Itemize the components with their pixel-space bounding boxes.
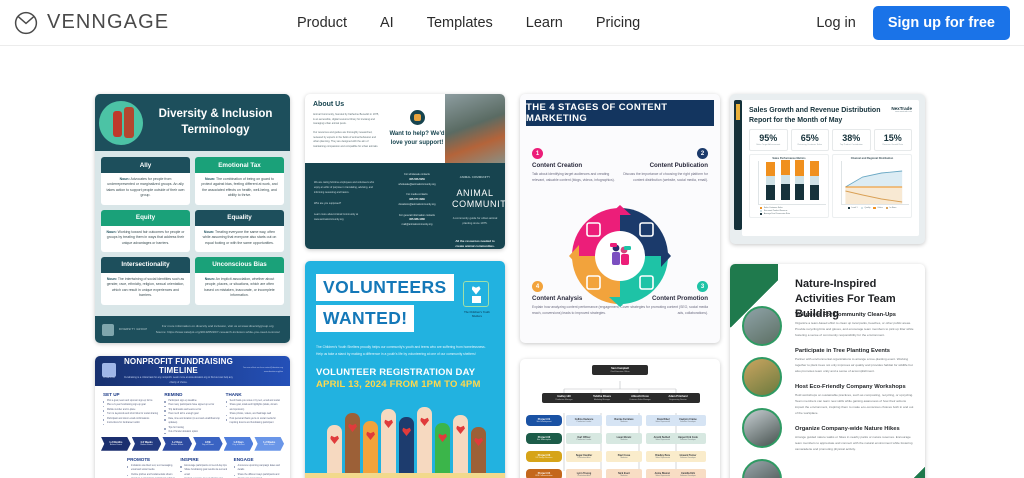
matrix-cell: Bonnie FurnitureMarketer bbox=[606, 415, 642, 426]
about-body: Animal Community, founded by Katherine B… bbox=[313, 113, 381, 149]
column-title: PROMOTE bbox=[127, 457, 175, 462]
report-page: Sales Growth and Revenue Distribution Re… bbox=[742, 100, 919, 236]
activity-list: Volunteer For Community Clean-Ups Organi… bbox=[795, 312, 914, 462]
ceo-node: Sam Campbell Chief Executive Officer bbox=[592, 365, 648, 375]
list-item: Date, time and location (in-text and ema… bbox=[164, 417, 220, 426]
kpi-card: 95% Sales Target Achievement bbox=[749, 129, 788, 151]
kpi-card: 65% Returning Customer Sales bbox=[791, 129, 830, 151]
column-title: SET UP bbox=[103, 392, 159, 397]
event-date: APRIL 13, 2024 FROM 1PM TO 4PM bbox=[305, 378, 505, 390]
activity-desc: Organize a team-based effort to clean up… bbox=[795, 320, 914, 338]
activity-desc: Arrange guided nature walks or hikes in … bbox=[795, 434, 914, 452]
shelter-logo: The Children's Youth Shelters bbox=[463, 281, 491, 319]
timeline-upper-columns: SET UP Pick a goal, team and sponsor sig… bbox=[95, 386, 290, 435]
brand-url: www.nextrade.com bbox=[891, 111, 912, 113]
hike-photo bbox=[742, 459, 782, 478]
list-item: Out of funder donation option bbox=[164, 430, 220, 434]
column-title: INSPIRE bbox=[180, 457, 228, 462]
timeline-column: SET UP Pick a goal, team and sponsor sig… bbox=[103, 392, 159, 435]
matrix-cell: Karl OfficerProduction Leader bbox=[566, 433, 602, 444]
term-header: Emotional Tax bbox=[195, 157, 284, 173]
stacked-bar bbox=[781, 160, 790, 200]
activity-item: Host Eco-Friendly Company Workshops Hold… bbox=[795, 384, 914, 416]
timeline-stage-arrows: 1-2 MonthsBefore Event 4-6 WeeksBefore E… bbox=[95, 435, 290, 453]
matrix-cell: Lynn TruongProduction Artist bbox=[566, 469, 602, 478]
cleanup-photo bbox=[742, 306, 782, 346]
project-label: Project #1Site Development bbox=[526, 415, 562, 426]
list-item: Announce upcoming campaign dates and det… bbox=[234, 464, 282, 473]
kpi-card: 15% Revenue Growth Rate bbox=[874, 129, 913, 151]
card-title: Diversity & Inclusion Terminology bbox=[147, 107, 284, 138]
login-link[interactable]: Log in bbox=[816, 15, 856, 31]
template-card-sales-report[interactable]: Sales Growth and Revenue Distribution Re… bbox=[730, 94, 925, 244]
term-definition: Noun: Treating everyone the same way, of… bbox=[195, 226, 284, 252]
brochure-inside: We are caring full-time employees and vo… bbox=[305, 163, 505, 249]
stage-1: 1 Content Creation Talk about identifyin… bbox=[532, 148, 620, 184]
signup-button[interactable]: Sign up for free bbox=[873, 6, 1010, 40]
stage-number: 4 bbox=[532, 281, 543, 292]
project-label: Project #4B2B Communication bbox=[526, 469, 562, 478]
list-item: Share the different ways participants an… bbox=[234, 473, 282, 478]
paw-badge-icon bbox=[410, 110, 425, 125]
venngage-logo[interactable]: VENNGAGE bbox=[14, 11, 169, 35]
footer-text: For more information on diversity and in… bbox=[152, 324, 283, 335]
project-label: Project #3UX Design Services bbox=[526, 451, 562, 462]
bar-plot-area bbox=[758, 161, 826, 205]
stacked-bar bbox=[795, 160, 804, 200]
kpi-value: 15% bbox=[876, 133, 911, 143]
panel-inside-left: We are caring full-time employees and vo… bbox=[305, 163, 389, 249]
tree-planting-photo bbox=[742, 357, 782, 397]
cta-text: Want to help? We'd love your support! bbox=[389, 130, 445, 147]
brand-logo: NexTrade www.nextrade.com bbox=[891, 106, 912, 126]
panel-cta: Want to help? We'd love your support! bbox=[389, 94, 445, 163]
legend-item: Quality bbox=[861, 207, 871, 209]
stage-number: 3 bbox=[697, 281, 708, 292]
timeline-subtitle: Fundraising is a critical task for any n… bbox=[122, 376, 235, 385]
list-item: Outline pitches and fundamentals shown s… bbox=[127, 473, 175, 478]
list-item: Instructions for fundraiser toolkit bbox=[103, 421, 159, 425]
matrix-cell: Nick EvertMarketer bbox=[606, 469, 642, 478]
stacked-bar bbox=[810, 161, 819, 200]
workshop-photo bbox=[742, 408, 782, 448]
activity-desc: Hold workshops on sustainable practices,… bbox=[795, 392, 914, 416]
stage-desc: Discuss the importance of choosing the r… bbox=[620, 171, 708, 184]
stage-arrow: 1-3 DaysDay of Event bbox=[224, 437, 254, 451]
activity-title: Organize Company-wide Nature Hikes bbox=[795, 426, 914, 432]
nav-item-ai[interactable]: AI bbox=[380, 15, 394, 31]
panel-about: About Us Animal Community, founded by Ka… bbox=[305, 94, 389, 163]
card-footer: DIVERSITY GROUP For more information on … bbox=[95, 316, 290, 343]
template-card-matrix-org-chart[interactable]: Sam Campbell Chief Executive Officer Had… bbox=[520, 359, 720, 478]
matrix-cell: Camilla KirkSoftware Developer bbox=[670, 469, 706, 478]
nav-item-templates[interactable]: Templates bbox=[427, 15, 493, 31]
template-gallery: Diversity & Inclusion Terminology Ally N… bbox=[0, 46, 1024, 478]
panel-contacts: For wholesale contacts905-566-5959wholes… bbox=[389, 163, 445, 249]
heart-house-icon bbox=[463, 281, 489, 307]
kpi-label: Top Product Contribution bbox=[834, 144, 869, 147]
term-definition: Noun: Working toward fair outcomes for p… bbox=[101, 226, 190, 252]
chart-legend: Level 1 Quality Online In-Store bbox=[835, 205, 909, 209]
column-title: REMIND bbox=[164, 392, 220, 397]
activity-title: Host Eco-Friendly Company Workshops bbox=[795, 384, 914, 390]
report-title: Sales Growth and Revenue Distribution Re… bbox=[749, 106, 891, 126]
fox-photo bbox=[445, 94, 505, 163]
term-header: Equity bbox=[101, 210, 190, 226]
timeline-column: THANK Send thank-you notes or by text, e… bbox=[226, 392, 282, 435]
brochure-front: About Us Animal Community, founded by Ka… bbox=[305, 94, 505, 163]
chart-legend: Sales Customer Sales Recurrent Product R… bbox=[752, 205, 826, 215]
activity-title: Participate in Tree Planting Events bbox=[795, 348, 914, 354]
kpi-value: 95% bbox=[751, 133, 786, 143]
nav-item-learn[interactable]: Learn bbox=[526, 15, 563, 31]
term-grid: Ally Noun: Advocates for people from und… bbox=[95, 151, 290, 311]
list-item: Invitations via direct text, text messag… bbox=[127, 464, 175, 473]
stage-number: 1 bbox=[532, 148, 543, 159]
term-definition: Noun: An implicit association, whether a… bbox=[195, 273, 284, 305]
poster-body: The Children's Youth Shelters proudly he… bbox=[305, 332, 505, 357]
header-text: NONPROFIT FUNDRAISING TIMELINE Fundraisi… bbox=[122, 357, 235, 385]
template-card-animal-community-brochure[interactable]: About Us Animal Community, founded by Ka… bbox=[305, 94, 505, 249]
org-chart-area: Sam Campbell Chief Executive Officer Had… bbox=[520, 359, 720, 478]
matrix-cell: Lavar MoretzMarketer bbox=[606, 433, 642, 444]
stage-arrow: LIVEDay of Event bbox=[193, 437, 223, 451]
main-navigation: Product AI Templates Learn Pricing bbox=[297, 15, 640, 31]
line-chart: Channel and Regional Distribution Level … bbox=[832, 154, 912, 218]
stage-arrow: 1-2 WeeksAfter Event bbox=[254, 437, 284, 451]
activity-title: Volunteer For Community Clean-Ups bbox=[795, 312, 914, 318]
term-header: Equality bbox=[195, 210, 284, 226]
donation-logo-icon bbox=[102, 363, 116, 377]
timeline-title: NONPROFIT FUNDRAISING TIMELINE bbox=[122, 357, 235, 375]
term-header: Unconscious Bias bbox=[195, 257, 284, 273]
kpi-value: 38% bbox=[834, 133, 869, 143]
legend-item: Level 1 bbox=[848, 207, 858, 209]
activity-item: Participate in Tree Planting Events Part… bbox=[795, 348, 914, 374]
activity-desc: Partner with environmental organizations… bbox=[795, 356, 914, 374]
brand-name: ANIMAL COMMUNITY bbox=[452, 188, 498, 211]
auth-group: Log in Sign up for free bbox=[816, 6, 1010, 40]
timeline-column: INSPIRE Encourage participants on feel-o… bbox=[180, 457, 228, 478]
template-card-volunteers-wanted[interactable]: VOLUNTEERS WANTED! The Children's Youth … bbox=[305, 261, 505, 478]
stage-arrow: 1-2 MonthsBefore Event bbox=[101, 437, 131, 451]
timeline-column: PROMOTE Invitations via direct text, tex… bbox=[127, 457, 175, 478]
template-card-fundraising-timeline[interactable]: DONATIONS NONPROFIT FUNDRAISING TIMELINE… bbox=[95, 356, 290, 478]
matrix-cell: Caelynn CraineSoftware Developer bbox=[670, 415, 706, 426]
template-card-nature-team-building[interactable]: Nature-Inspired Activities For Team Buil… bbox=[730, 264, 925, 478]
nav-item-pricing[interactable]: Pricing bbox=[596, 15, 640, 31]
card-title: THE 4 STAGES OF CONTENT MARKETING bbox=[526, 102, 714, 124]
brand-sub: A community guide for urban animal plant… bbox=[452, 216, 498, 226]
kpi-label: Revenue Growth Rate bbox=[876, 144, 911, 147]
cycle-wheel bbox=[569, 205, 671, 307]
column-title: THANK bbox=[226, 392, 282, 397]
spine-decoration bbox=[734, 100, 742, 230]
timeline-lower-columns: PROMOTE Invitations via direct text, tex… bbox=[95, 453, 290, 478]
term-cell: Intersectionality Noun: The intertwining… bbox=[101, 257, 190, 305]
raised-hands-illustration bbox=[305, 400, 505, 473]
kpi-label: Sales Target Achievement bbox=[751, 144, 786, 147]
venn-circle-icon bbox=[14, 11, 38, 35]
card-title-band: THE 4 STAGES OF CONTENT MARKETING bbox=[526, 100, 714, 126]
activity-item: Volunteer For Community Clean-Ups Organi… bbox=[795, 312, 914, 338]
brand-logo: DONATIONS bbox=[102, 363, 116, 379]
term-definition: Noun: Advocates for people from underrep… bbox=[101, 173, 190, 205]
group-logo-icon bbox=[102, 324, 114, 336]
kpi-card: 38% Top Product Contribution bbox=[832, 129, 871, 151]
stage-2: 2 Content Publication Discuss the import… bbox=[620, 148, 708, 184]
event-title: VOLUNTEER REGISTRATION DAY bbox=[305, 357, 505, 378]
house-icon bbox=[472, 296, 481, 303]
matrix-cell: Paul CruseMarketer bbox=[606, 451, 642, 462]
list-item: Share fundraising goal results via text … bbox=[180, 468, 228, 477]
legend-item: Online bbox=[873, 207, 882, 209]
column-title: ENGAGE bbox=[234, 457, 282, 462]
nav-item-product[interactable]: Product bbox=[297, 15, 347, 31]
term-header: Ally bbox=[101, 157, 190, 173]
bar-chart: Sales Performance Metrics Sales Customer… bbox=[749, 154, 829, 218]
brand-tagline: All the resources needed to create anima… bbox=[452, 239, 498, 249]
timeline-header: DONATIONS NONPROFIT FUNDRAISING TIMELINE… bbox=[95, 356, 290, 386]
photo-column bbox=[742, 306, 794, 478]
term-cell: Emotional Tax Noun: The combination of b… bbox=[195, 157, 284, 205]
about-title: About Us bbox=[313, 101, 381, 108]
chart-title: Channel and Regional Distribution bbox=[835, 157, 909, 160]
term-header: Intersectionality bbox=[101, 257, 190, 273]
term-definition: Noun: The intertwining of social identit… bbox=[101, 273, 190, 305]
timeline-column: REMIND Participant sign-up deadline How … bbox=[164, 392, 220, 435]
chart-row: Sales Performance Metrics Sales Customer… bbox=[742, 151, 919, 218]
logo-label: The Children's Youth Shelters bbox=[463, 311, 491, 319]
term-cell: Ally Noun: Advocates for people from und… bbox=[101, 157, 190, 205]
template-card-diversity-inclusion[interactable]: Diversity & Inclusion Terminology Ally N… bbox=[95, 94, 290, 343]
legend-item: In-Store bbox=[886, 207, 897, 209]
footer-brand: DIVERSITY GROUP bbox=[119, 328, 147, 331]
stage-arrow: 1-2 DaysBefore Event bbox=[162, 437, 192, 451]
heart-icon bbox=[472, 286, 481, 295]
card-header: Diversity & Inclusion Terminology bbox=[95, 94, 290, 151]
stage-title: Content Publication bbox=[620, 162, 708, 169]
stage-desc: Talk about identifying target audiences … bbox=[532, 171, 620, 184]
logo-text: VENNGAGE bbox=[47, 11, 169, 34]
cycle-diagram: 1 Content Creation Talk about identifyin… bbox=[520, 126, 720, 343]
timeline-column: ENGAGE Announce upcoming campaign dates … bbox=[234, 457, 282, 478]
site-header: VENNGAGE Product AI Templates Learn Pric… bbox=[0, 0, 1024, 46]
kpi-value: 65% bbox=[793, 133, 828, 143]
panel-brand: ANIMAL COMMUNITY ANIMAL COMMUNITY A comm… bbox=[445, 163, 505, 249]
headline-line-1: VOLUNTEERS bbox=[316, 274, 454, 301]
kpi-label: Returning Customer Sales bbox=[793, 144, 828, 147]
header-contact: Your own efforts are here contact@donati… bbox=[241, 367, 283, 374]
term-cell: Equality Noun: Treating everyone the sam… bbox=[195, 210, 284, 252]
term-cell: Unconscious Bias Noun: An implicit assoc… bbox=[195, 257, 284, 305]
matrix-cell: Sugar KandlerProduction Artist bbox=[566, 451, 602, 462]
list-item: Share goal, totals and highlights (total… bbox=[226, 403, 282, 412]
legend-item: Average Deal Conversion Rate bbox=[760, 213, 826, 215]
people-globe-illustration bbox=[99, 101, 143, 145]
poster-footer: Children Youth Shelter Community HQ 412 … bbox=[305, 473, 505, 478]
function-node: Adam PritchardEngineering Director bbox=[656, 393, 700, 403]
list-item: Post personal thank-you's on social medi… bbox=[226, 417, 282, 426]
matrix-cell: Howard TurnerSoftware Developer bbox=[670, 451, 706, 462]
headline-line-2: WANTED! bbox=[316, 305, 414, 332]
brand-small: ANIMAL COMMUNITY bbox=[452, 175, 498, 179]
term-cell: Equity Noun: Working toward fair outcome… bbox=[101, 210, 190, 252]
line-plot-area bbox=[841, 161, 909, 205]
activity-item: Organize Company-wide Nature Hikes Arran… bbox=[795, 426, 914, 452]
report-header: Sales Growth and Revenue Distribution Re… bbox=[742, 100, 919, 129]
brand-name: DONATIONS bbox=[102, 377, 116, 379]
stacked-bar bbox=[766, 162, 775, 200]
matrix-cell: Harper Kirk CookSoftware Developer bbox=[670, 433, 706, 444]
term-definition: Noun: The combination of being on guard … bbox=[195, 173, 284, 205]
project-label: Project #2Site Subscription bbox=[526, 433, 562, 444]
matrix-cell: Collins KadenceProduction Leader bbox=[566, 415, 602, 426]
template-card-content-marketing[interactable]: THE 4 STAGES OF CONTENT MARKETING 1 Cont… bbox=[520, 94, 720, 343]
stage-title: Content Creation bbox=[532, 162, 620, 169]
stage-number: 2 bbox=[697, 148, 708, 159]
kpi-row: 95% Sales Target Achievement 65% Returni… bbox=[742, 129, 919, 151]
stage-arrow: 4-6 WeeksBefore Event bbox=[132, 437, 162, 451]
